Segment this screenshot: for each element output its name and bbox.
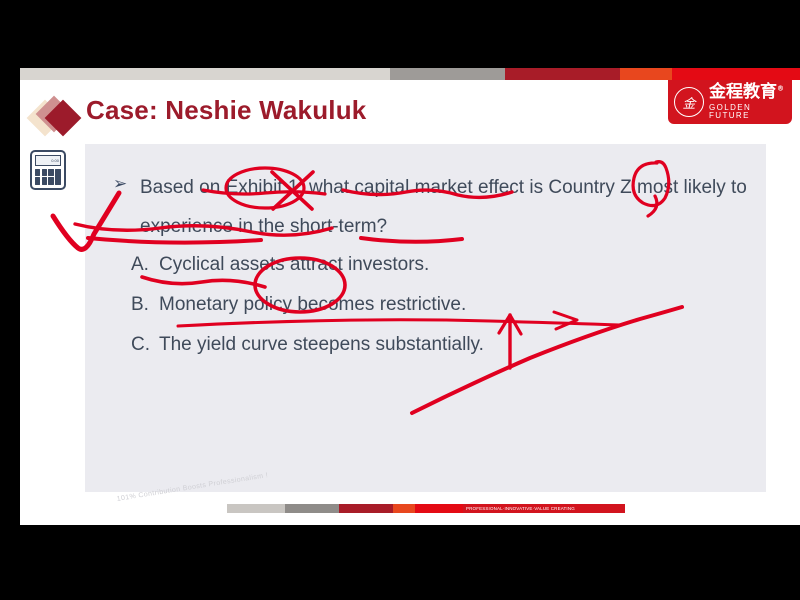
- footer-color-bars: PROFESSIONAL·INNOVATIVE·VALUE CREATING: [227, 504, 625, 513]
- footer-tagline: PROFESSIONAL·INNOVATIVE·VALUE CREATING: [463, 504, 578, 513]
- footer-bar-segment: [393, 504, 415, 513]
- slide-title-row: Case: Neshie Wakuluk 金 金程教育® GOLDEN FUTU…: [20, 80, 800, 138]
- calculator-key-enter: [55, 169, 61, 185]
- footer-bar-segment-trailing: [578, 504, 625, 513]
- registered-mark: ®: [777, 84, 784, 92]
- top-strip-segment: [390, 68, 505, 80]
- calculator-key: [42, 177, 47, 184]
- answer-choice-b-letter: B.: [131, 294, 159, 316]
- top-strip-segment: [20, 68, 390, 80]
- video-frame: Case: Neshie Wakuluk 金 金程教育® GOLDEN FUTU…: [0, 0, 800, 600]
- top-strip-segment: [620, 68, 672, 80]
- answer-choice-a-letter: A.: [131, 254, 159, 276]
- calculator-display: 0.00: [35, 155, 61, 166]
- top-color-strip: [20, 68, 800, 80]
- top-strip-segment: [505, 68, 620, 80]
- answer-choice-a-text: Cyclical assets attract investors.: [159, 254, 429, 275]
- calculator-keypad: [35, 169, 61, 185]
- page-title: Case: Neshie Wakuluk: [86, 95, 366, 126]
- footer-bar-segment: [339, 504, 393, 513]
- brand-name-en: GOLDEN FUTURE: [709, 104, 792, 120]
- calculator-icon: 0.00: [30, 150, 66, 190]
- question-panel: ➢ Based on Exhibit 1, what capital marke…: [85, 144, 766, 492]
- footer-bar-segment: [415, 504, 463, 513]
- footer-bar-segment: [227, 504, 285, 513]
- calculator-key: [42, 169, 47, 176]
- bullet-arrow-icon: ➢: [113, 176, 131, 192]
- brand-text-block: 金程教育® GOLDEN FUTURE: [709, 84, 792, 120]
- answer-choice-b[interactable]: B.Monetary policy becomes restrictive.: [131, 294, 466, 316]
- slide-footer: 101% Contribution Boosts Professionalism…: [20, 492, 800, 525]
- diamond-logo-icon: [32, 96, 86, 140]
- answer-choice-c-letter: C.: [131, 334, 159, 356]
- presentation-slide: Case: Neshie Wakuluk 金 金程教育® GOLDEN FUTU…: [20, 68, 800, 525]
- calculator-key: [35, 169, 40, 176]
- footer-bar-segment: [285, 504, 339, 513]
- brand-seal-glyph: 金: [682, 93, 695, 112]
- answer-choice-c[interactable]: C.The yield curve steepens substantially…: [131, 334, 484, 356]
- brand-logo: 金 金程教育® GOLDEN FUTURE: [668, 80, 792, 124]
- calculator-key: [48, 177, 53, 184]
- letterbox-bottom-bar: [0, 525, 800, 600]
- answer-choice-b-text: Monetary policy becomes restrictive.: [159, 294, 466, 315]
- brand-name-cn-text: 金程教育: [709, 82, 777, 102]
- question-text: Based on Exhibit 1, what capital market …: [140, 168, 750, 246]
- brand-name-cn: 金程教育®: [709, 84, 792, 101]
- brand-seal-icon: 金: [674, 87, 704, 117]
- letterbox-top-bar: [0, 0, 800, 68]
- top-strip-segment: [672, 68, 800, 80]
- answer-choice-a[interactable]: A.Cyclical assets attract investors.: [131, 254, 429, 276]
- calculator-key: [35, 177, 40, 184]
- calculator-key: [48, 169, 53, 176]
- answer-choice-c-text: The yield curve steepens substantially.: [159, 334, 484, 355]
